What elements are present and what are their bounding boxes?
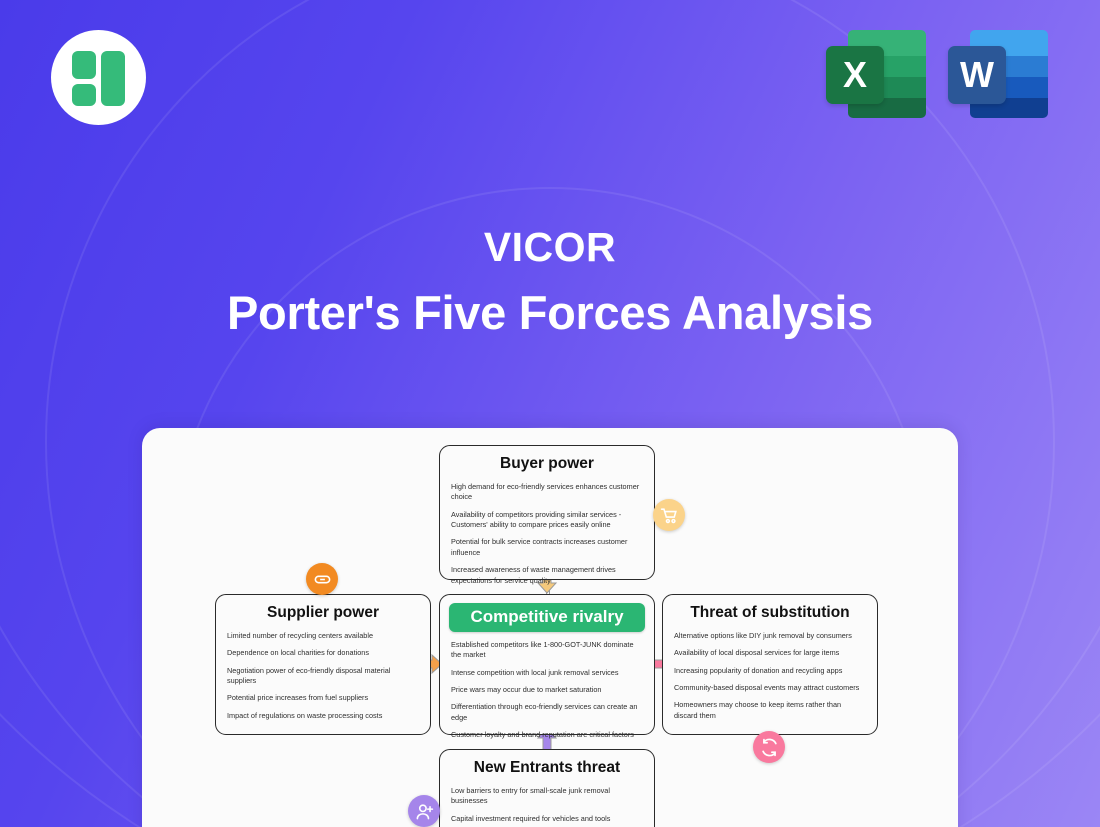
force-title: Buyer power: [451, 455, 643, 473]
word-icon[interactable]: W: [948, 30, 1048, 118]
force-box-buyer-power[interactable]: Buyer power High demand for eco-friendly…: [439, 445, 655, 580]
force-point: Low barriers to entry for small-scale ju…: [451, 786, 643, 807]
force-point: Availability of local disposal services …: [674, 648, 866, 658]
force-point: Negotiation power of eco-friendly dispos…: [227, 666, 419, 687]
force-point: Established competitors like 1-800-GOT-J…: [451, 640, 643, 661]
force-box-new-entrants-threat[interactable]: New Entrants threat Low barriers to entr…: [439, 749, 655, 827]
force-point: Alternative options like DIY junk remova…: [674, 631, 866, 641]
refresh-sync-icon: [760, 738, 779, 757]
diagram-panel: Buyer power High demand for eco-friendly…: [142, 428, 958, 827]
force-title: Supplier power: [227, 604, 419, 622]
brand-logo: [51, 30, 146, 125]
force-point: Customer loyalty and brand reputation ar…: [451, 730, 643, 740]
force-box-threat-of-substitution[interactable]: Threat of substitution Alternative optio…: [662, 594, 878, 735]
force-box-supplier-power[interactable]: Supplier power Limited number of recycli…: [215, 594, 431, 735]
shopping-cart-icon: [660, 506, 679, 525]
badge-new-entrants-threat: [408, 795, 440, 827]
company-name: VICOR: [0, 224, 1100, 271]
badge-threat-of-substitution: [753, 731, 785, 763]
force-points: Alternative options like DIY junk remova…: [674, 631, 866, 721]
slide-canvas: X W VICOR Porter's Five Forces Analysis: [0, 0, 1100, 827]
force-title: Competitive rivalry: [449, 603, 645, 632]
badge-buyer-power: [653, 499, 685, 531]
force-point: Capital investment required for vehicles…: [451, 814, 643, 824]
office-app-icons: X W: [826, 30, 1048, 118]
word-letter: W: [948, 46, 1006, 104]
force-point: Increasing popularity of donation and re…: [674, 666, 866, 676]
force-points: Low barriers to entry for small-scale ju…: [451, 786, 643, 827]
header-block: VICOR Porter's Five Forces Analysis: [0, 224, 1100, 340]
force-point: Availability of competitors providing si…: [451, 510, 643, 531]
excel-letter: X: [826, 46, 884, 104]
force-point: Potential for bulk service contracts inc…: [451, 537, 643, 558]
link-chain-icon: [313, 570, 332, 589]
force-box-competitive-rivalry[interactable]: Competitive rivalry Established competit…: [439, 594, 655, 735]
porters-five-forces-diagram: Buyer power High demand for eco-friendly…: [142, 428, 958, 827]
grid-blocks-logo-icon: [72, 51, 126, 105]
force-points: High demand for eco-friendly services en…: [451, 482, 643, 586]
force-point: Price wars may occur due to market satur…: [451, 685, 643, 695]
force-title: Threat of substitution: [674, 604, 866, 622]
force-points: Established competitors like 1-800-GOT-J…: [451, 640, 643, 741]
force-point: Differentiation through eco-friendly ser…: [451, 702, 643, 723]
add-user-icon: [415, 802, 434, 821]
force-point: Dependence on local charities for donati…: [227, 648, 419, 658]
force-point: Limited number of recycling centers avai…: [227, 631, 419, 641]
page-title: Porter's Five Forces Analysis: [0, 285, 1100, 340]
badge-supplier-power: [306, 563, 338, 595]
force-point: Impact of regulations on waste processin…: [227, 711, 419, 721]
excel-icon[interactable]: X: [826, 30, 926, 118]
force-point: Intense competition with local junk remo…: [451, 668, 643, 678]
force-point: High demand for eco-friendly services en…: [451, 482, 643, 503]
force-point: Potential price increases from fuel supp…: [227, 693, 419, 703]
force-point: Increased awareness of waste management …: [451, 565, 643, 586]
force-point: Community-based disposal events may attr…: [674, 683, 866, 693]
force-point: Homeowners may choose to keep items rath…: [674, 700, 866, 721]
force-title: New Entrants threat: [451, 759, 643, 777]
force-points: Limited number of recycling centers avai…: [227, 631, 419, 721]
